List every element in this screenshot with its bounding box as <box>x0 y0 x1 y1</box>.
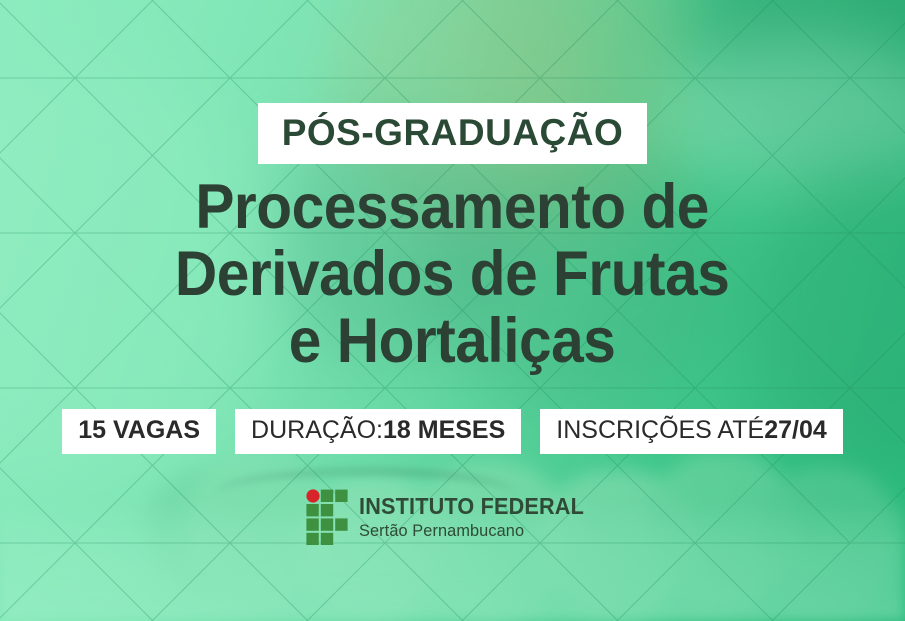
duration-value: 18 MESES <box>383 418 505 443</box>
title-line-1: Processamento de <box>175 174 729 241</box>
deadline-value: 27/04 <box>764 418 827 443</box>
info-badge-duration: DURAÇÃO: 18 MESES <box>235 409 521 454</box>
logo-text-block: INSTITUTO FEDERAL Sertão Pernambucano <box>359 495 598 539</box>
duration-label: DURAÇÃO: <box>251 418 383 443</box>
eyebrow-badge: PÓS-GRADUAÇÃO <box>258 103 648 164</box>
title-line-3: e Hortaliças <box>175 308 729 375</box>
logo-title: INSTITUTO FEDERAL <box>359 495 584 518</box>
info-badge-row: 15 VAGAS DURAÇÃO: 18 MESES INSCRIÇÕES AT… <box>0 409 905 454</box>
institution-logo: INSTITUTO FEDERAL Sertão Pernambucano <box>0 489 905 545</box>
instituto-federal-logo-icon <box>306 489 348 545</box>
info-badge-deadline: INSCRIÇÕES ATÉ 27/04 <box>540 409 842 454</box>
title-line-2: Derivados de Frutas <box>175 241 729 308</box>
deadline-label: INSCRIÇÕES ATÉ <box>556 418 764 443</box>
info-badge-vacancies: 15 VAGAS <box>62 409 216 454</box>
banner-content: PÓS-GRADUAÇÃO Processamento de Derivados… <box>0 0 905 621</box>
logo-subtitle: Sertão Pernambucano <box>359 522 589 539</box>
promotional-banner: PÓS-GRADUAÇÃO Processamento de Derivados… <box>0 0 905 621</box>
vacancies-value: 15 VAGAS <box>78 418 200 443</box>
page-title: Processamento de Derivados de Frutas e H… <box>175 174 729 374</box>
